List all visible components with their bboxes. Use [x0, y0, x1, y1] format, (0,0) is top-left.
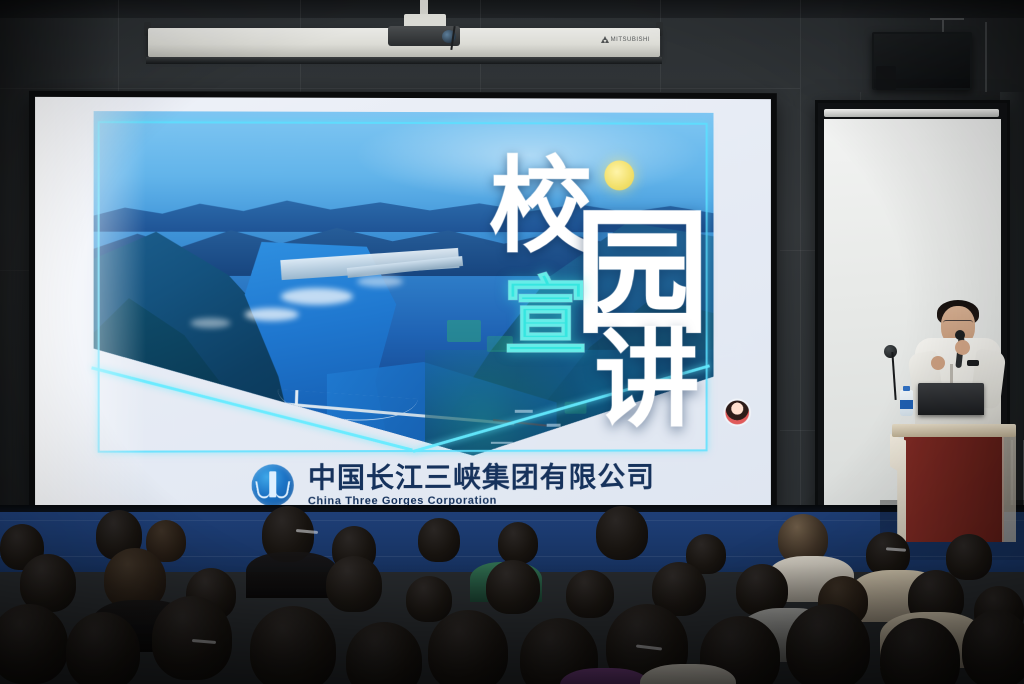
slide-title-char-4: 讲	[594, 328, 699, 434]
presenter-right-hand	[955, 340, 970, 355]
avatar-watermark-icon	[725, 401, 749, 425]
slide-title-char-3: 宣	[503, 274, 589, 360]
audience-head	[152, 596, 232, 680]
sun-icon	[604, 160, 634, 190]
lecture-hall-scene: MITSUBISHI	[0, 0, 1024, 684]
audience-head	[596, 506, 648, 560]
presenter-watch	[967, 360, 979, 366]
mitsubishi-logo-icon: MITSUBISHI	[601, 36, 650, 43]
audience-head	[946, 534, 992, 580]
audience-head	[66, 612, 140, 684]
company-name-cn: 中国长江三峡集团有限公司	[308, 462, 655, 492]
audience-head	[346, 622, 422, 684]
handheld-microphone-head	[955, 330, 965, 340]
audience-head	[0, 604, 68, 684]
presenter-glasses-icon	[943, 320, 973, 327]
audience-head	[962, 610, 1024, 684]
audience-head	[498, 522, 538, 564]
audience-head	[326, 556, 382, 612]
podium-top-surface	[892, 424, 1016, 437]
audience-head	[250, 606, 336, 684]
ac-brand-label: MITSUBISHI	[611, 37, 650, 43]
whiteboard-top-rail	[824, 109, 999, 117]
audience-head	[486, 560, 540, 614]
tv-arm-horizontal	[930, 18, 964, 20]
audience-head	[418, 518, 460, 562]
audience-head	[428, 610, 508, 684]
water-bottle[interactable]	[900, 390, 913, 416]
presenter-left-hand	[931, 356, 945, 370]
led-screen-frame: 校 园 宣 讲 中国长江三峡集团有限公司 China Three Gorges …	[29, 91, 777, 517]
presentation-slide[interactable]: 校 园 宣 讲 中国长江三峡集团有限公司 China Three Gorges …	[35, 97, 771, 511]
seated-audience	[0, 500, 1024, 684]
audience-head	[566, 570, 614, 618]
audience-head	[786, 604, 870, 684]
audience-head	[406, 576, 452, 622]
ac-grille	[146, 57, 662, 64]
tv-cable	[985, 22, 987, 92]
laptop[interactable]	[918, 383, 984, 415]
tv-equipment-box	[876, 66, 896, 90]
